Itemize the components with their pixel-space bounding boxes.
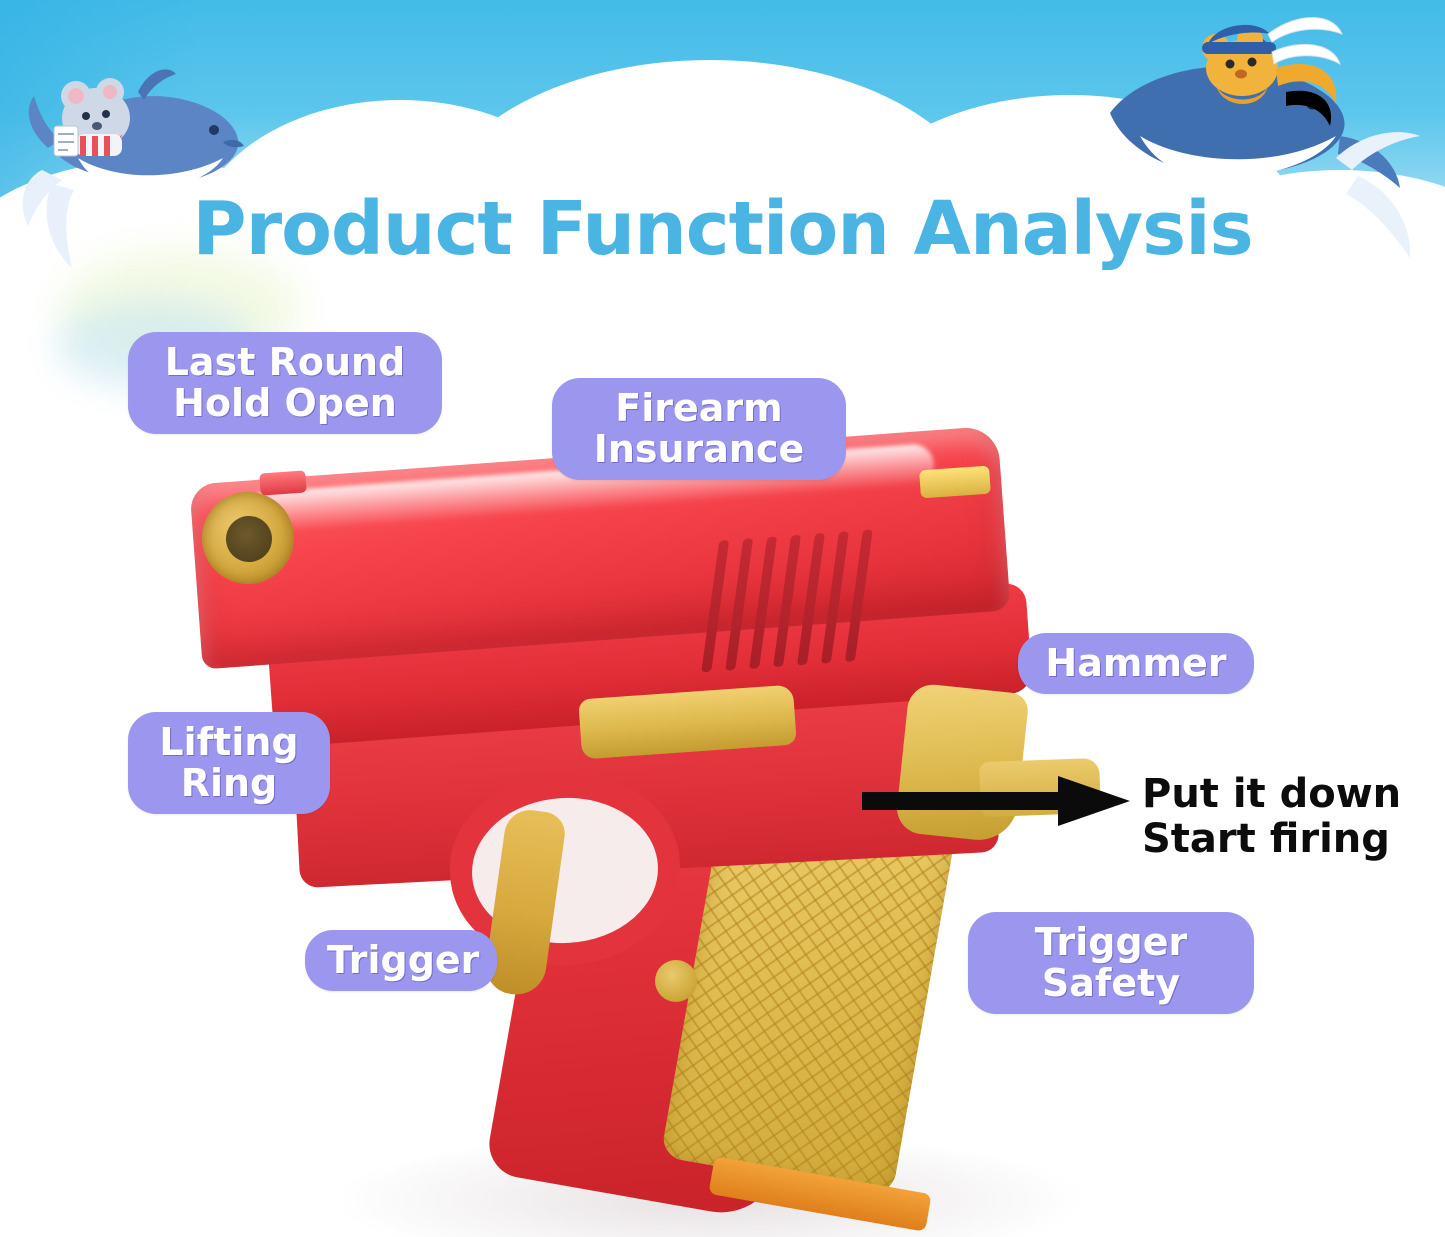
callout-put-it-down-start-firing: Put it down Start firing <box>1142 772 1401 862</box>
poster-canvas: Product Function Analysis <box>0 0 1445 1237</box>
slide-serrations <box>701 528 899 673</box>
grip-screw <box>655 960 697 1002</box>
front-sight <box>259 470 306 495</box>
rear-sight <box>919 466 991 499</box>
label-hammer[interactable]: Hammer <box>1018 633 1254 694</box>
right-arrow-icon <box>862 772 1134 834</box>
label-last-round-hold-open[interactable]: Last Round Hold Open <box>128 332 442 434</box>
label-trigger-safety[interactable]: Trigger Safety <box>968 912 1254 1014</box>
label-firearm-insurance[interactable]: Firearm Insurance <box>552 378 846 480</box>
label-lifting-ring[interactable]: Lifting Ring <box>128 712 330 814</box>
label-trigger[interactable]: Trigger <box>305 930 497 991</box>
page-title: Product Function Analysis <box>0 186 1445 272</box>
